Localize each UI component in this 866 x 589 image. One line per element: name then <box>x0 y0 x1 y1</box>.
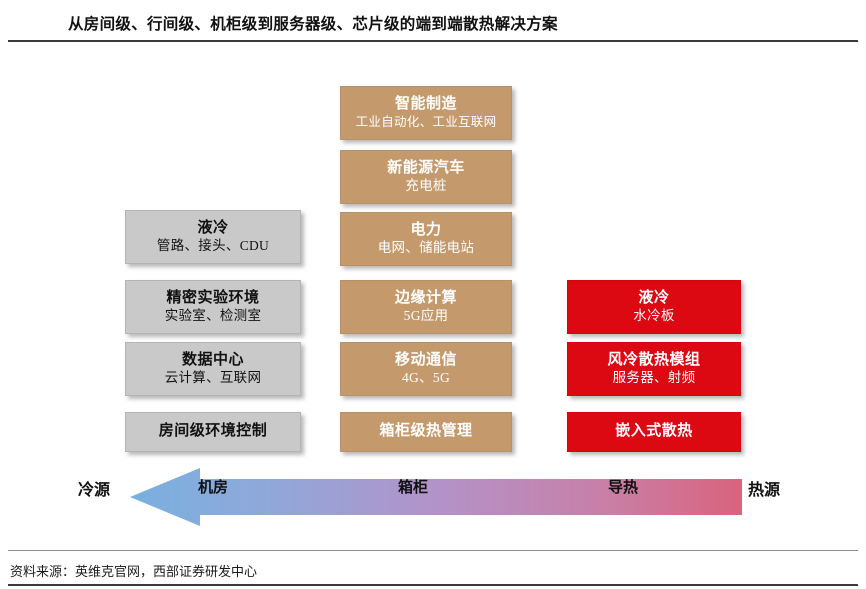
axis-label-heat-source: 热源 <box>748 476 780 500</box>
box-title: 箱柜级热管理 <box>379 423 472 441</box>
header-divider <box>8 40 858 42</box>
middle-box-edge-computing[interactable]: 边缘计算 5G应用 <box>340 280 512 334</box>
box-title: 房间级环境控制 <box>159 423 268 441</box>
box-subtitle: 实验室、检测室 <box>165 308 262 324</box>
box-subtitle: 电网、储能电站 <box>378 240 475 256</box>
box-subtitle: 水冷板 <box>633 308 674 324</box>
left-box-data-center[interactable]: 数据中心 云计算、互联网 <box>125 342 301 396</box>
box-subtitle: 云计算、互联网 <box>165 370 262 386</box>
box-subtitle: 工业自动化、工业互联网 <box>356 115 497 130</box>
middle-box-mobile-communication[interactable]: 移动通信 4G、5G <box>340 342 512 396</box>
box-title: 液冷 <box>638 290 669 308</box>
box-subtitle: 服务器、射频 <box>613 370 696 386</box>
box-title: 液冷 <box>197 220 228 238</box>
left-box-precision-lab-environment[interactable]: 精密实验环境 实验室、检测室 <box>125 280 301 334</box>
box-subtitle: 4G、5G <box>402 370 450 386</box>
box-title: 数据中心 <box>182 352 244 370</box>
footer-divider-bottom <box>8 584 858 586</box>
page-title: 从房间级、行间级、机柜级到服务器级、芯片级的端到端散热解决方案 <box>68 12 558 34</box>
axis-label-cold-source: 冷源 <box>78 476 110 500</box>
box-title: 精密实验环境 <box>166 290 259 308</box>
footer-divider-top <box>8 550 858 551</box>
box-title: 嵌入式散热 <box>615 423 693 441</box>
middle-box-electric-power[interactable]: 电力 电网、储能电站 <box>340 212 512 266</box>
axis-stage-heat-conduction: 导热 <box>608 476 638 497</box>
middle-box-cabinet-level-thermal-management[interactable]: 箱柜级热管理 <box>340 412 512 452</box>
box-title: 移动通信 <box>395 352 457 370</box>
right-box-embedded-thermal-dissipation[interactable]: 嵌入式散热 <box>567 412 741 452</box>
axis-stage-machine-room: 机房 <box>198 476 228 497</box>
left-box-room-level-environment-control[interactable]: 房间级环境控制 <box>125 412 301 452</box>
box-subtitle: 充电桩 <box>405 178 446 194</box>
box-title: 智能制造 <box>395 96 457 114</box>
box-title: 风冷散热模组 <box>607 352 700 370</box>
left-box-liquid-cooling[interactable]: 液冷 管路、接头、CDU <box>125 210 301 264</box>
box-subtitle: 5G应用 <box>404 308 449 324</box>
box-title: 电力 <box>410 222 441 240</box>
right-box-air-cooling-module[interactable]: 风冷散热模组 服务器、射频 <box>567 342 741 396</box>
axis-stage-cabinet: 箱柜 <box>398 476 428 497</box>
middle-box-smart-manufacturing[interactable]: 智能制造 工业自动化、工业互联网 <box>340 86 512 140</box>
diagram-canvas: 液冷 管路、接头、CDU 精密实验环境 实验室、检测室 数据中心 云计算、互联网… <box>0 48 866 543</box>
box-title: 新能源汽车 <box>387 160 465 178</box>
right-box-liquid-cooling[interactable]: 液冷 水冷板 <box>567 280 741 334</box>
source-note: 资料来源：英维克官网，西部证券研发中心 <box>10 561 257 580</box>
middle-box-new-energy-vehicle[interactable]: 新能源汽车 充电桩 <box>340 150 512 204</box>
box-title: 边缘计算 <box>395 290 457 308</box>
box-subtitle: 管路、接头、CDU <box>157 238 269 254</box>
